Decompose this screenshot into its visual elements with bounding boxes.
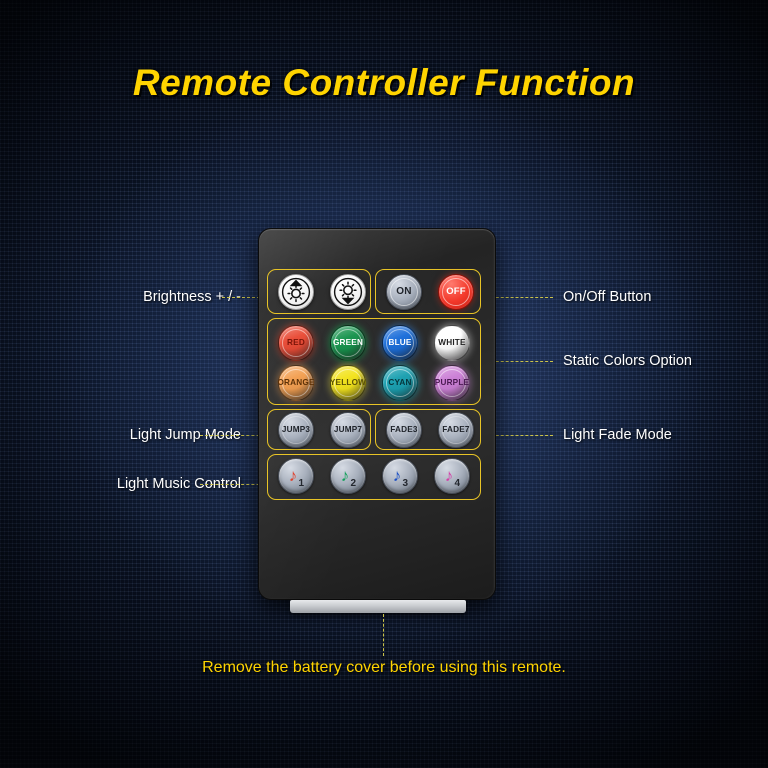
off-button[interactable]: OFF [438, 274, 474, 310]
color-button-green-label: GREEN [333, 339, 363, 347]
music-button-3-label: 3 [402, 478, 408, 489]
page-caption: Remove the battery cover before using th… [0, 659, 768, 677]
brightness-up-icon [281, 277, 311, 307]
remote-controller-body: ON OFF RED GREEN BLUE WHITE ORANGE YEL [258, 228, 496, 600]
jump7-button[interactable]: JUMP7 [330, 412, 366, 448]
music-button-2[interactable]: ♪2 [330, 458, 366, 494]
color-button-cyan[interactable]: CYAN [382, 365, 418, 401]
color-button-red[interactable]: RED [278, 325, 314, 361]
off-button-label: OFF [446, 287, 466, 297]
music-button-4[interactable]: ♪4 [434, 458, 470, 494]
color-button-cyan-label: CYAN [388, 379, 411, 387]
on-button[interactable]: ON [386, 274, 422, 310]
page-title: Remote Controller Function [0, 62, 768, 104]
callout-static-colors-label: Static Colors Option [563, 353, 692, 369]
infographic-stage: Remote Controller Function Brightness + … [0, 0, 768, 768]
color-button-green[interactable]: GREEN [330, 325, 366, 361]
jump3-button-label: JUMP3 [282, 426, 310, 434]
color-button-blue[interactable]: BLUE [382, 325, 418, 361]
caption-leader [383, 614, 384, 656]
color-button-blue-label: BLUE [388, 339, 411, 347]
color-button-purple[interactable]: PURPLE [434, 365, 470, 401]
music-note-3-icon: ♪ [393, 466, 402, 485]
color-button-orange[interactable]: ORANGE [278, 365, 314, 401]
brightness-down-button[interactable] [330, 274, 366, 310]
music-button-2-label: 2 [350, 478, 356, 489]
brightness-down-icon [333, 277, 363, 307]
music-button-1-label: 1 [298, 478, 304, 489]
color-button-purple-label: PURPLE [435, 379, 469, 387]
music-button-1[interactable]: ♪1 [278, 458, 314, 494]
color-button-red-label: RED [287, 339, 305, 347]
color-button-white-label: WHITE [438, 339, 465, 347]
callout-fade-label: Light Fade Mode [563, 427, 672, 443]
color-button-yellow-label: YELLOW [330, 379, 366, 387]
music-button-3[interactable]: ♪3 [382, 458, 418, 494]
music-note-1-icon: ♪ [289, 466, 298, 485]
on-button-label: ON [396, 287, 411, 297]
jump7-button-label: JUMP7 [334, 426, 362, 434]
callout-onoff-label: On/Off Button [563, 289, 651, 305]
color-button-yellow[interactable]: YELLOW [330, 365, 366, 401]
brightness-up-button[interactable] [278, 274, 314, 310]
battery-cover[interactable] [290, 600, 466, 613]
color-button-white[interactable]: WHITE [434, 325, 470, 361]
fade3-button-label: FADE3 [390, 426, 417, 434]
music-note-4-icon: ♪ [445, 466, 454, 485]
fade7-button[interactable]: FADE7 [438, 412, 474, 448]
fade3-button[interactable]: FADE3 [386, 412, 422, 448]
color-button-orange-label: ORANGE [277, 379, 314, 387]
music-button-4-label: 4 [454, 478, 460, 489]
music-note-2-icon: ♪ [341, 466, 350, 485]
jump3-button[interactable]: JUMP3 [278, 412, 314, 448]
fade7-button-label: FADE7 [442, 426, 469, 434]
